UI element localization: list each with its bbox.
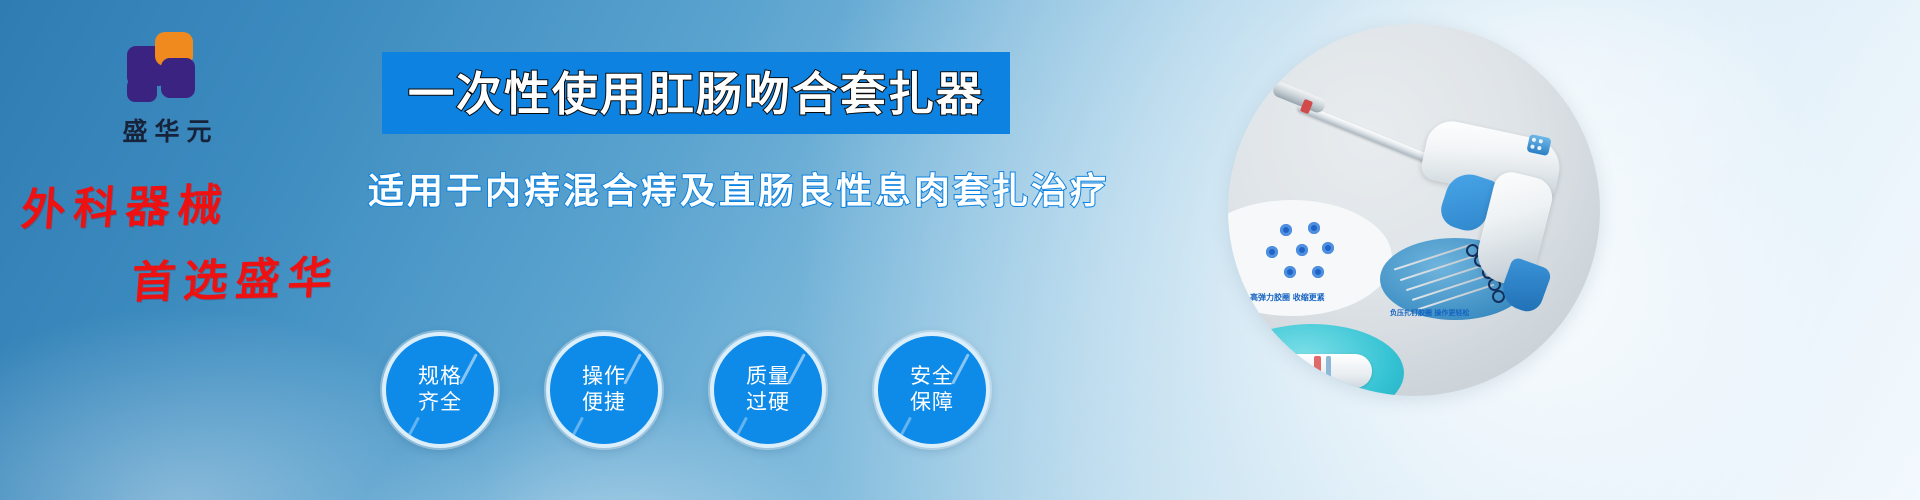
product-photo: 高弹力胶圈 收缩更紧 负压扎钉胶圈 操作更轻松 xyxy=(1228,24,1600,396)
feature-circle-3[interactable]: 质量 过硬 xyxy=(710,332,826,448)
rubber-ring-icon xyxy=(1322,242,1334,254)
feature-label-line2: 便捷 xyxy=(582,390,626,416)
feature-label-line1: 操作 xyxy=(582,364,626,390)
brand-logo[interactable]: 盛华元 xyxy=(72,28,262,148)
rubber-ring-icon xyxy=(1280,224,1292,236)
rubber-ring-icon xyxy=(1312,266,1324,278)
slogan-line-1: 外科器械 xyxy=(19,166,343,238)
feature-label-line1: 质量 xyxy=(746,364,790,390)
slogan-line-2: 首选盛华 xyxy=(129,241,343,310)
feature-label-line2: 保障 xyxy=(910,390,954,416)
needle-icon xyxy=(1394,243,1473,270)
cartridge-band-red xyxy=(1314,356,1321,386)
promo-banner: 盛华元 外科器械 首选盛华 一次性使用肛肠吻合套扎器 适用于内痔混合痔及直肠良性… xyxy=(0,0,1920,500)
slash-decor-icon xyxy=(571,417,584,438)
slash-decor-icon xyxy=(899,417,912,438)
device-dot-icon xyxy=(1537,146,1542,151)
logo-square-4 xyxy=(127,78,157,102)
logo-wordmark: 盛华元 xyxy=(72,112,262,148)
feature-circle-2[interactable]: 操作 便捷 xyxy=(546,332,662,448)
feature-circle-1[interactable]: 规格 齐全 xyxy=(382,332,498,448)
device-dot-icon xyxy=(1538,139,1543,144)
feature-label-line1: 安全 xyxy=(910,364,954,390)
device-dot-icon xyxy=(1532,137,1537,142)
slash-decor-icon xyxy=(735,417,748,438)
headline-title-bar: 一次性使用肛肠吻合套扎器 xyxy=(382,52,1010,134)
rubber-ring-group xyxy=(1254,220,1364,290)
logo-mark-icon xyxy=(121,28,213,106)
device-dot-icon xyxy=(1530,144,1535,149)
feature-circle-list: 规格 齐全 操作 便捷 质量 过硬 安全 保障 xyxy=(382,332,990,448)
slogan-calligraphy: 外科器械 首选盛华 xyxy=(22,170,340,308)
rubber-ring-icon xyxy=(1308,222,1320,234)
logo-square-3 xyxy=(161,58,195,98)
feature-label-line1: 规格 xyxy=(418,364,462,390)
page-subtitle: 适用于内痔混合痔及直肠良性息肉套扎治疗 xyxy=(368,162,1109,214)
slash-decor-icon xyxy=(407,417,420,438)
product-label-needles: 负压扎钉胶圈 操作更轻松 xyxy=(1390,308,1469,318)
cartridge-band-blue xyxy=(1326,356,1331,386)
product-label-rings: 高弹力胶圈 收缩更紧 xyxy=(1250,292,1325,303)
feature-label-line2: 齐全 xyxy=(418,390,462,416)
rubber-ring-icon xyxy=(1284,266,1296,278)
rubber-ring-icon xyxy=(1296,244,1308,256)
feature-label-line2: 过硬 xyxy=(746,390,790,416)
feature-circle-4[interactable]: 安全 保障 xyxy=(874,332,990,448)
page-title: 一次性使用肛肠吻合套扎器 xyxy=(408,67,984,121)
rubber-ring-icon xyxy=(1266,246,1278,258)
